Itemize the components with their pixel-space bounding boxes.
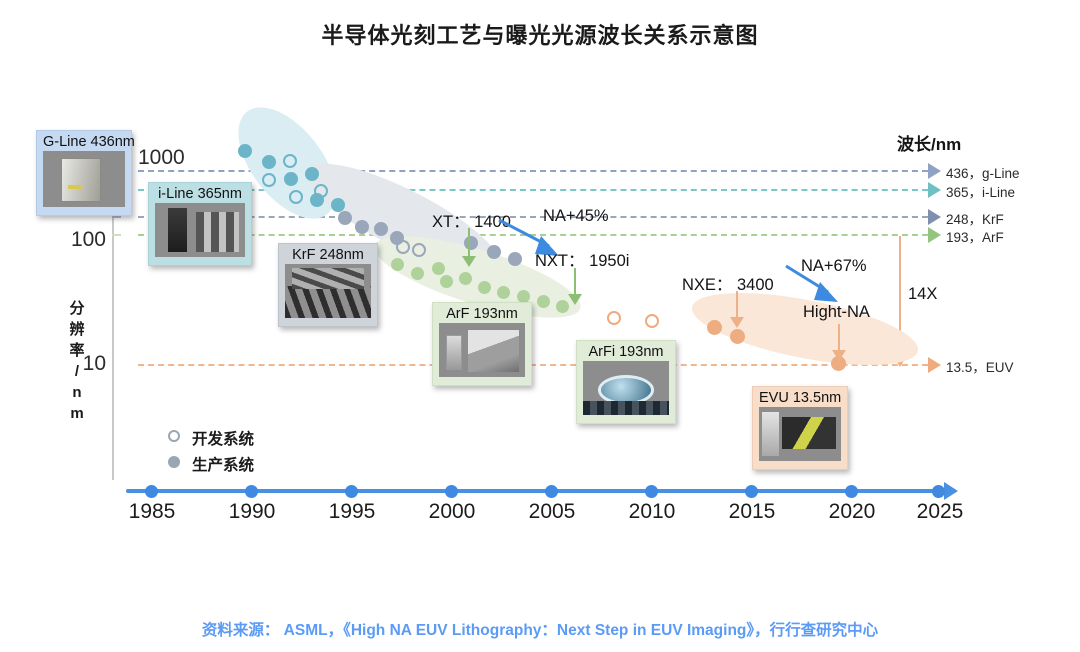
x-tick-1985: 1985: [112, 500, 192, 524]
annotation-arrowhead-nxt-1950i: [568, 294, 582, 305]
data-point-production: [707, 320, 722, 335]
data-point-production: [238, 144, 252, 158]
photo-card-krf: KrF 248nm: [278, 243, 378, 327]
x-axis-dot: [145, 485, 158, 498]
x-tick-2025: 2025: [900, 500, 980, 524]
annotation-stem-nxe-3400: [736, 291, 738, 319]
x-axis-dot: [932, 485, 945, 498]
source-footer: 资料来源： ASML，《High NA EUV Lithography：Next…: [0, 618, 1080, 640]
photo-card-euv: EVU 13.5nm: [752, 386, 848, 470]
data-point-production: [497, 286, 510, 299]
data-point-production: [355, 220, 369, 234]
data-point-development: [262, 173, 276, 187]
annotation-stem-nxt-1950i: [574, 268, 576, 296]
legend-label-production: 生产系统: [192, 453, 254, 475]
reference-label-193: 193，ArF: [946, 226, 1004, 246]
data-point-production: [730, 329, 745, 344]
y-minor-tick: [112, 234, 121, 236]
photo-card-title: G-Line 436nm: [43, 134, 125, 151]
annotation-nxe-3400: NXE： 3400: [682, 271, 774, 295]
annotation-arrow-na67: [784, 264, 846, 306]
x-axis-dot: [445, 485, 458, 498]
data-point-production: [440, 275, 453, 288]
chart-title: 半导体光刻工艺与曝光光源波长关系示意图: [0, 18, 1080, 50]
x-axis-dot: [545, 485, 558, 498]
photo-card-image: [155, 203, 245, 257]
data-point-production: [537, 295, 550, 308]
y-tick-1000: 1000: [138, 146, 208, 170]
data-point-production: [478, 281, 491, 294]
photo-card-image: [439, 323, 525, 377]
data-point-production: [374, 222, 388, 236]
data-point-production: [262, 155, 276, 169]
data-point-production: [284, 172, 298, 186]
photo-card-arfi: ArFi 193nm: [576, 340, 676, 424]
data-point-development: [396, 240, 410, 254]
photo-card-title: KrF 248nm: [285, 247, 371, 264]
x-tick-2010: 2010: [612, 500, 692, 524]
data-point-development: [645, 314, 659, 328]
data-point-production: [305, 167, 319, 181]
legend-marker-production: [168, 456, 180, 468]
x-tick-2005: 2005: [512, 500, 592, 524]
annotation-arrowhead-nxe-3400: [730, 317, 744, 328]
y-axis-title-char: m: [62, 403, 92, 424]
ratio-label-14x: 14X: [908, 285, 937, 304]
reference-label-365: 365，i-Line: [946, 181, 1015, 201]
data-point-production: [391, 258, 404, 271]
x-tick-2000: 2000: [412, 500, 492, 524]
x-tick-2015: 2015: [712, 500, 792, 524]
annotation-stem-hight-na: [838, 324, 840, 352]
y-axis-title: 分 辨 率 / n m: [62, 298, 92, 424]
legend-label-development: 开发系统: [192, 427, 254, 449]
x-tick-1995: 1995: [312, 500, 392, 524]
data-point-development: [607, 311, 621, 325]
photo-card-image: [285, 264, 371, 318]
x-axis-arrow: [944, 482, 958, 500]
reference-arrow-365: [928, 182, 941, 198]
data-point-development: [283, 154, 297, 168]
reference-line-13_5: [138, 364, 928, 366]
reference-line-365: [138, 189, 928, 191]
data-point-development: [289, 190, 303, 204]
reference-label-436: 436，g-Line: [946, 162, 1020, 182]
x-axis-dot: [245, 485, 258, 498]
photo-card-g-line: G-Line 436nm: [36, 130, 132, 216]
photo-card-image: [43, 151, 125, 207]
wavelength-axis-title: 波长/nm: [897, 130, 961, 155]
y-axis-title-char: n: [62, 382, 92, 403]
chart-canvas: 半导体光刻工艺与曝光光源波长关系示意图 436，g-Line 365，i-Lin…: [0, 0, 1080, 652]
x-axis-dot: [745, 485, 758, 498]
data-point-production: [411, 267, 424, 280]
legend-marker-development: [168, 430, 180, 442]
photo-card-title: i-Line 365nm: [155, 186, 245, 203]
annotation-hight-na: Hight-NA: [803, 303, 870, 322]
photo-card-title: ArFi 193nm: [583, 344, 669, 361]
reference-label-248: 248，KrF: [946, 208, 1004, 228]
y-axis-title-char: 分: [62, 298, 92, 319]
y-axis-title-char: 辨: [62, 319, 92, 340]
x-axis-dot: [845, 485, 858, 498]
reference-arrow-193: [928, 227, 941, 243]
data-point-development: [314, 184, 328, 198]
annotation-nxt-1950i: NXT： 1950i: [535, 247, 629, 271]
data-point-production: [432, 262, 445, 275]
data-point-production: [331, 198, 345, 212]
y-tick-100: 100: [36, 228, 106, 252]
photo-card-arf: ArF 193nm: [432, 302, 532, 386]
data-point-production: [338, 211, 352, 225]
x-tick-1990: 1990: [212, 500, 292, 524]
x-axis-dot: [645, 485, 658, 498]
photo-card-image: [759, 407, 841, 461]
annotation-stem-xt-1400: [468, 228, 470, 258]
annotation-arrowhead-hight-na: [832, 350, 846, 361]
data-point-development: [412, 243, 426, 257]
data-point-production: [459, 272, 472, 285]
reference-arrow-436: [928, 163, 941, 179]
reference-label-13_5: 13.5，EUV: [946, 356, 1014, 376]
reference-arrow-248: [928, 209, 941, 225]
data-point-production: [464, 236, 478, 250]
annotation-arrowhead-xt-1400: [462, 256, 476, 267]
y-axis-title-char: 率: [62, 340, 92, 361]
y-axis-title-char: /: [62, 361, 92, 382]
x-tick-2020: 2020: [812, 500, 892, 524]
x-axis-dot: [345, 485, 358, 498]
photo-card-title: EVU 13.5nm: [759, 390, 841, 407]
photo-card-title: ArF 193nm: [439, 306, 525, 323]
photo-card-i-line: i-Line 365nm: [148, 182, 252, 266]
y-minor-tick: [112, 216, 121, 218]
reference-arrow-13_5: [928, 357, 941, 373]
photo-card-image: [583, 361, 669, 415]
